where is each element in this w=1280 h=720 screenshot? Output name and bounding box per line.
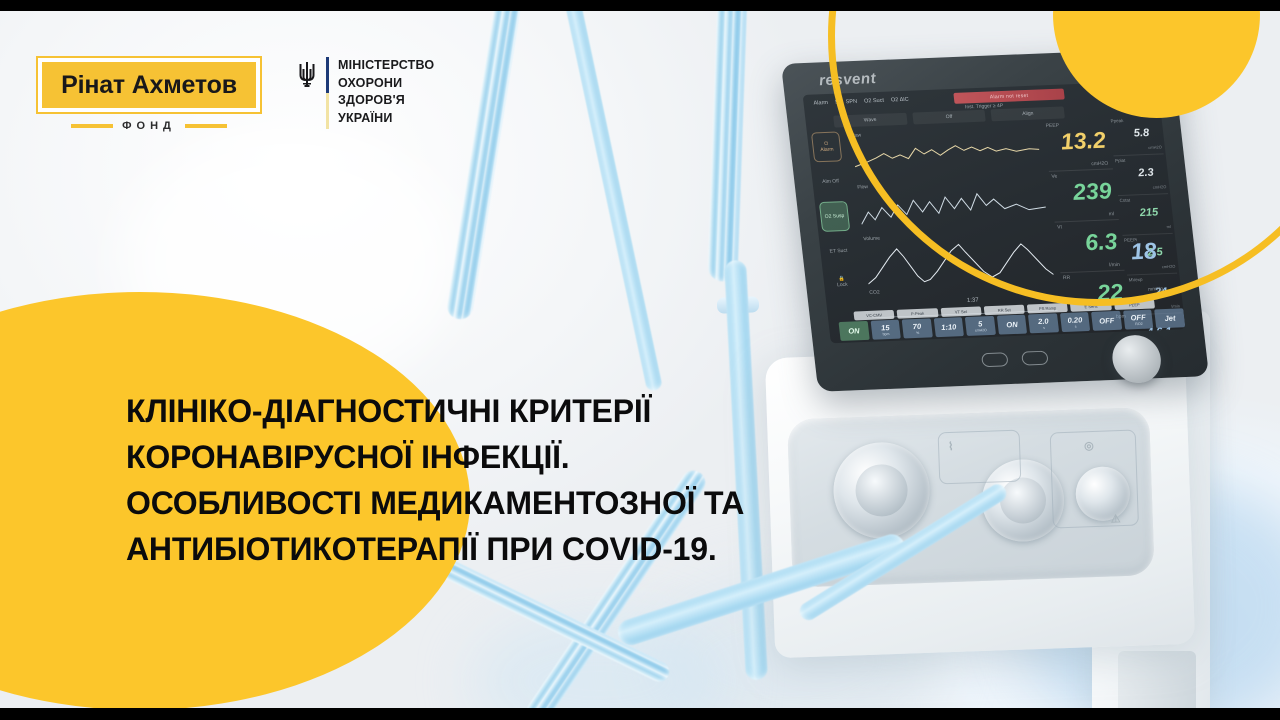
alarm-silence-button[interactable]: ⏻ Alarm [811, 131, 842, 162]
parameter-label: VC-CMV [853, 310, 894, 321]
wave-label: CO2 [869, 290, 880, 296]
parameter-button[interactable]: 70 % [902, 318, 933, 338]
wave-label: Volume [863, 236, 880, 243]
ministry-line: УКРАЇНИ [338, 110, 434, 128]
breathing-tube [445, 11, 522, 321]
et-suction-button[interactable]: ET Suct [823, 240, 854, 263]
parameter-button[interactable]: 5 cmH2O [965, 316, 996, 336]
ministry-line: ОХОРОНИ [338, 75, 434, 93]
foundation-subtitle-row: ФОНД [38, 116, 260, 136]
alarm-off-button[interactable]: Alm Off [815, 170, 846, 193]
foundation-subtitle: ФОНД [122, 120, 176, 132]
wave-label: Flow [857, 184, 868, 190]
parameter-button[interactable]: Jet [1155, 308, 1186, 328]
ministry-line: ЗДОРОВ'Я [338, 92, 434, 110]
parameter-button[interactable]: OFF FiO2 [1123, 310, 1154, 330]
parameter-button[interactable]: ON [839, 321, 870, 341]
parameter-button[interactable]: ON [997, 315, 1028, 335]
parameter-button[interactable]: 2.0 s [1028, 313, 1059, 333]
title-line: КЛІНІКО-ДІАГНОСТИЧНІ КРИТЕРІЇ [126, 388, 1026, 434]
warning-icon: ⚠ [1110, 512, 1120, 525]
ministry-logo: МІНІСТЕРСТВО ОХОРОНИ ЗДОРОВ'Я УКРАЇНИ [297, 57, 434, 129]
screen-lock-icon[interactable] [981, 352, 1009, 367]
breathing-tube [708, 11, 748, 282]
title-line: КОРОНАВІРУСНОЇ ІНФЕКЦІЇ. [126, 434, 1026, 480]
letterbox-bottom [0, 708, 1280, 720]
slide-canvas: ⌇ ◎ ⚠ resvent Alarm S SPN O2 Suct O2 ∆IC [0, 0, 1280, 720]
rule-left [71, 124, 113, 128]
parameter-button[interactable]: OFF [1091, 311, 1122, 331]
foundation-logo: Рінат Ахметов ФОНД [38, 58, 260, 140]
breathing-tube [560, 11, 663, 392]
foundation-logo-plate: Рінат Ахметов [38, 58, 260, 112]
filter-icon: ◎ [1084, 439, 1094, 452]
lock-button[interactable]: 🔒 Lock [827, 271, 858, 294]
print-icon[interactable] [1021, 351, 1049, 366]
o2-suspend-button[interactable]: O2 Susp [819, 201, 850, 232]
panel-inset [1050, 430, 1139, 529]
ie-ratio-label: 1:37 [967, 298, 979, 304]
ventilator-column-foot [1118, 651, 1196, 708]
foundation-name: Рінат Ахметов [61, 71, 237, 100]
page-title: КЛІНІКО-ДІАГНОСТИЧНІ КРИТЕРІЇ КОРОНАВІРУ… [126, 388, 1026, 572]
mode-tab[interactable]: Alarm [813, 100, 828, 107]
flag-divider [326, 57, 329, 129]
title-line: АНТИБІОТИКОТЕРАПІЇ ПРИ COVID-19. [126, 526, 1026, 572]
parameter-button[interactable]: 1:10 [933, 317, 964, 337]
title-line: ОСОБЛИВОСТІ МЕДИКАМЕНТОЗНОЇ ТА [126, 480, 1026, 526]
parameter-label: VT Set [940, 306, 981, 317]
parameter-label: RR Set [984, 305, 1025, 316]
ministry-line: МІНІСТЕРСТВО [338, 57, 434, 75]
parameter-label: PS Ramp [1027, 303, 1068, 314]
trident-icon [297, 60, 317, 88]
parameter-label: P-Peak [897, 308, 938, 319]
letterbox-top [0, 0, 1280, 11]
parameter-button[interactable]: 15 bpm [870, 320, 901, 340]
parameter-button[interactable]: 0.20 s [1060, 312, 1091, 332]
rule-right [185, 124, 227, 128]
ministry-name: МІНІСТЕРСТВО ОХОРОНИ ЗДОРОВ'Я УКРАЇНИ [338, 57, 434, 127]
